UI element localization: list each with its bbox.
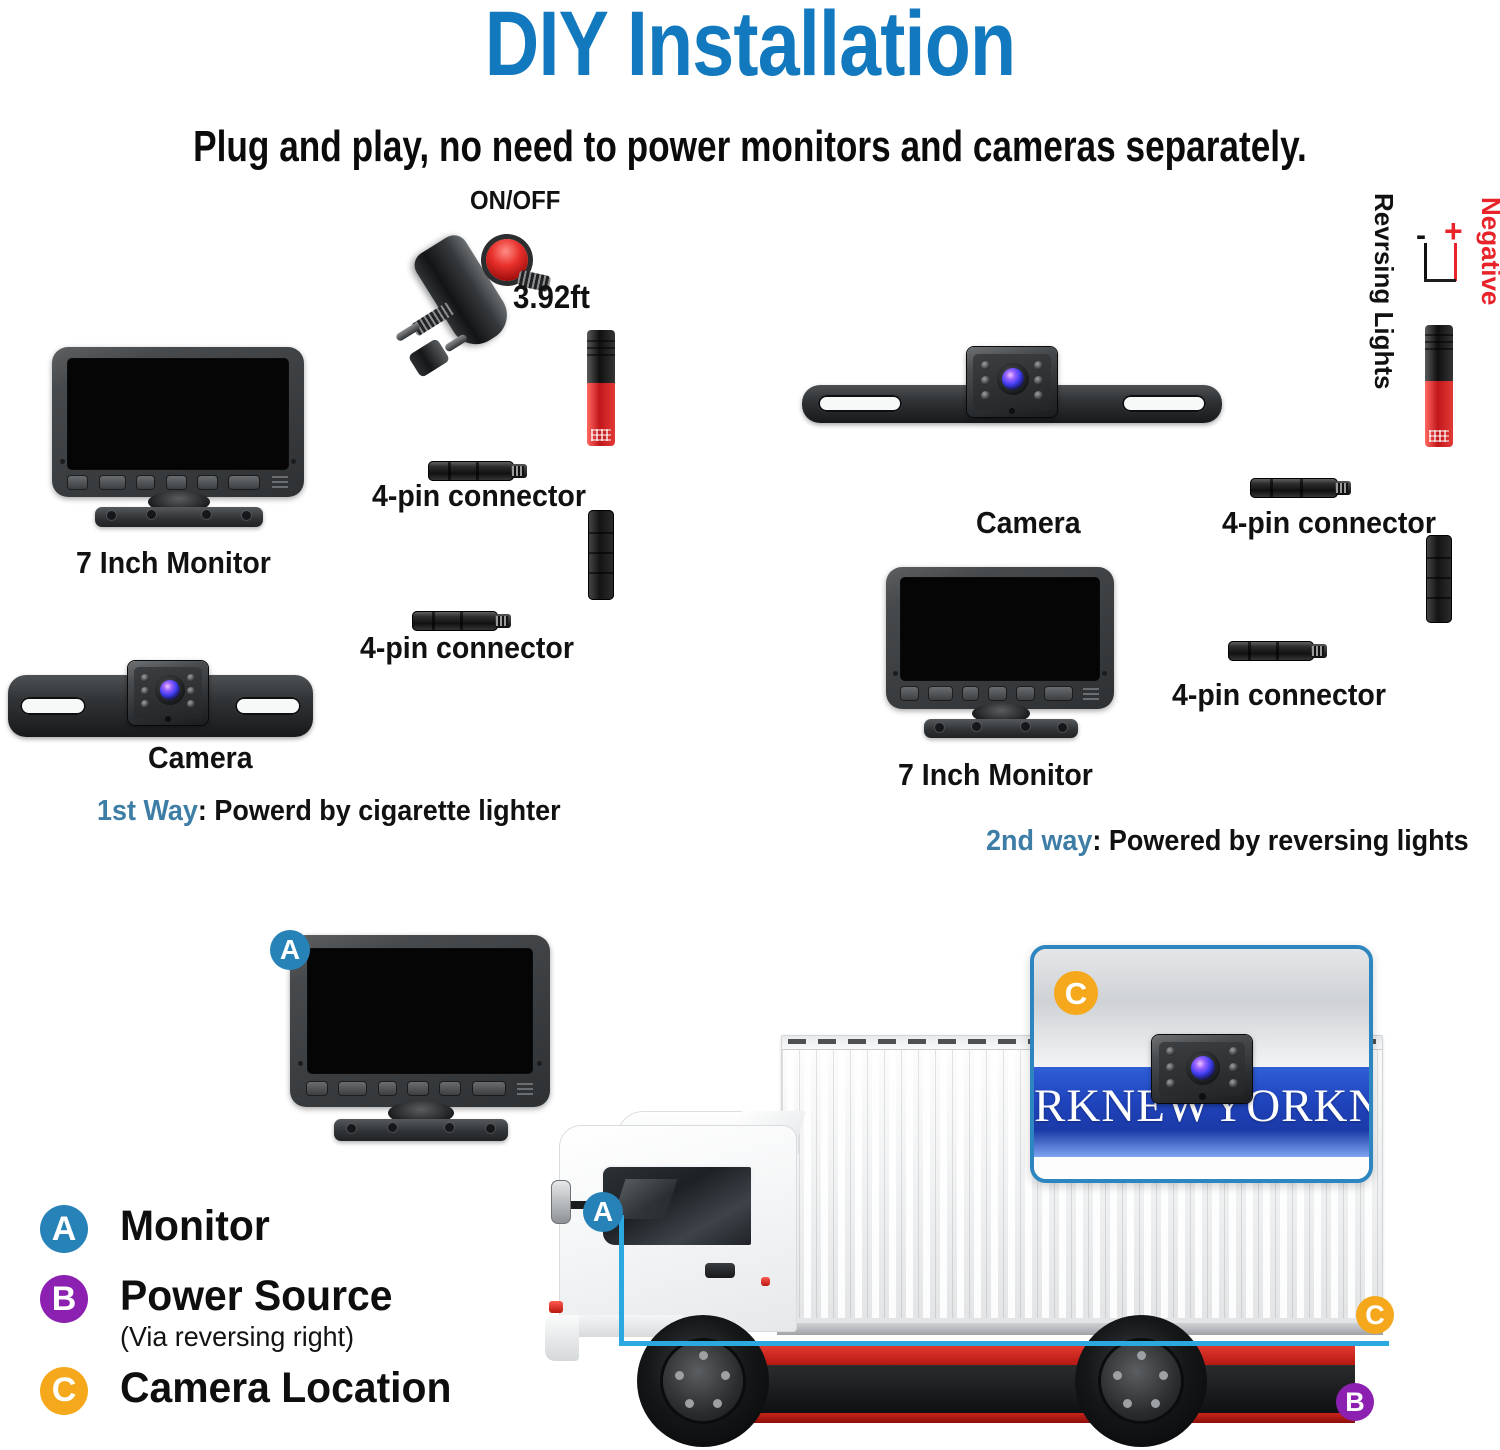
monitor-button[interactable] xyxy=(68,476,87,489)
ir-led xyxy=(1034,391,1043,400)
light-sensor xyxy=(1009,408,1015,414)
monitor-button[interactable] xyxy=(339,1082,366,1095)
light-sensor xyxy=(1199,1093,1206,1100)
ir-led xyxy=(187,700,195,708)
camera-right-wire-h xyxy=(978,487,1440,491)
caption-first-way-rest: : Powerd by cigarette lighter xyxy=(198,795,561,827)
truck-door-handle xyxy=(705,1263,735,1278)
page-subtitle: Plug and play, no need to power monitors… xyxy=(150,122,1350,172)
ir-led xyxy=(1166,1079,1175,1088)
ir-led xyxy=(187,674,195,682)
ir-led xyxy=(141,674,149,682)
legend-marker-c: C xyxy=(40,1367,88,1415)
power-barrel-connector-right xyxy=(1425,325,1453,447)
monitor-stand-base xyxy=(334,1119,508,1141)
diagram-second-way: Revrsing Lights Negative - + xyxy=(790,185,1500,885)
truck-front-wheel xyxy=(637,1315,769,1447)
monitor-bottom xyxy=(290,935,550,1150)
monitor-right-label: 7 Inch Monitor xyxy=(898,757,1093,793)
connector-right-top xyxy=(1250,478,1338,498)
ir-led xyxy=(1166,1047,1175,1056)
ir-led xyxy=(1229,1047,1238,1056)
truck-marker-light xyxy=(761,1277,770,1286)
connector-top-label: 4-pin connector xyxy=(372,478,586,514)
legend-sub-power-source: (Via reversing right) xyxy=(120,1321,395,1353)
monitor-button[interactable] xyxy=(137,476,154,489)
legend: A Monitor B Power Source (Via reversing … xyxy=(40,1205,560,1415)
ir-led xyxy=(141,700,149,708)
ir-led xyxy=(1166,1063,1175,1072)
fork-trunk xyxy=(1438,279,1442,329)
truck-rear-wheel xyxy=(1075,1315,1207,1447)
reversing-lights-label: Revrsing Lights xyxy=(1368,193,1399,389)
monitor-stand-base xyxy=(95,507,263,527)
negative-label: Negative xyxy=(1475,197,1500,305)
ir-led xyxy=(1034,376,1043,385)
monitor-power-button[interactable] xyxy=(229,476,259,489)
monitor-right xyxy=(886,567,1114,747)
monitor-left-label: 7 Inch Monitor xyxy=(76,545,271,581)
diagram-first-way: ON/OFF 3.92ft xyxy=(0,185,700,865)
monitor-button[interactable] xyxy=(307,1082,327,1095)
connector-bottom xyxy=(412,611,498,631)
ir-led xyxy=(1229,1079,1238,1088)
camera-location-inset: RKNEWYORKN C xyxy=(1030,945,1373,1183)
cable-splitter xyxy=(588,510,614,600)
monitor-button[interactable] xyxy=(901,687,918,700)
caption-second-way: 2nd way: Powered by reversing lights xyxy=(986,825,1469,858)
truck-underbody xyxy=(705,1365,1355,1413)
monitor-button[interactable] xyxy=(198,476,217,489)
negative-lead xyxy=(1424,243,1427,281)
power-barrel-connector xyxy=(587,330,615,446)
monitor-button[interactable] xyxy=(167,476,186,489)
wire-route-chassis xyxy=(619,1341,1389,1346)
onoff-label: ON/OFF xyxy=(470,185,560,216)
camera-right-wire-down xyxy=(978,421,982,489)
legend-title-power-source: Power Source xyxy=(120,1275,392,1319)
legend-item-monitor: A Monitor xyxy=(40,1205,560,1253)
monitor-button[interactable] xyxy=(929,687,952,700)
marker-c-inset: C xyxy=(1054,971,1098,1015)
page-title: DIY Installation xyxy=(135,0,1365,93)
license-plate-camera-right xyxy=(802,385,1222,423)
plug-wire-vertical xyxy=(600,271,604,333)
camera-module-inset xyxy=(1152,1035,1252,1103)
marker-a-cab: A xyxy=(583,1192,623,1232)
camera-wire-bottom xyxy=(172,620,600,624)
ir-led xyxy=(981,361,990,370)
monitor-button[interactable] xyxy=(100,476,125,489)
speaker-grill-icon xyxy=(517,1083,533,1095)
caption-second-way-rest: : Powered by reversing lights xyxy=(1092,825,1468,857)
monitor-button[interactable] xyxy=(963,687,978,700)
camera-lens-icon xyxy=(1191,1056,1215,1080)
truck-lower-rail xyxy=(695,1413,1355,1423)
wire-route-cab xyxy=(619,1215,624,1345)
plug-wire-horizontal xyxy=(548,271,604,275)
camera-lens-icon xyxy=(160,680,180,700)
camera-right-label: Camera xyxy=(976,505,1081,541)
ir-led xyxy=(1034,361,1043,370)
ir-led xyxy=(981,391,990,400)
legend-item-power-source: B Power Source (Via reversing right) xyxy=(40,1275,560,1353)
ir-led xyxy=(981,376,990,385)
monitor-button[interactable] xyxy=(408,1082,428,1095)
marker-c-camera-location: C xyxy=(1356,1296,1394,1334)
connector-right-bottom-label: 4-pin connector xyxy=(1172,677,1386,713)
monitor-button[interactable] xyxy=(440,1082,460,1095)
legend-title-camera-location: Camera Location xyxy=(120,1367,451,1411)
camera-left-label: Camera xyxy=(148,740,253,776)
camera-module xyxy=(128,661,208,725)
monitor-power-button[interactable] xyxy=(1045,687,1072,700)
speaker-grill-icon xyxy=(1083,688,1099,700)
positive-lead xyxy=(1454,243,1457,281)
truck-box-skirt xyxy=(777,1323,1383,1335)
monitor-left xyxy=(52,347,304,537)
license-plate-camera-left xyxy=(8,675,313,737)
monitor-power-button[interactable] xyxy=(473,1082,505,1095)
monitor-button[interactable] xyxy=(1017,687,1034,700)
cable-length-label: 3.92ft xyxy=(513,279,590,316)
legend-marker-a: A xyxy=(40,1205,88,1253)
truck-chassis-rail xyxy=(695,1345,1355,1367)
caption-first-way-prefix: 1st Way xyxy=(97,795,198,827)
ir-led xyxy=(187,687,195,695)
legend-item-camera-location: C Camera Location xyxy=(40,1367,560,1415)
light-sensor xyxy=(165,716,171,722)
monitor-stand-base xyxy=(924,719,1078,738)
marker-a-monitor: A xyxy=(270,930,310,970)
caption-second-way-prefix: 2nd way xyxy=(986,825,1092,857)
monitor-button[interactable] xyxy=(379,1082,396,1095)
cable-splitter-right xyxy=(1426,535,1452,623)
speaker-grill-icon xyxy=(272,476,288,488)
legend-marker-b: B xyxy=(40,1275,88,1323)
caption-first-way: 1st Way: Powerd by cigarette lighter xyxy=(97,795,561,828)
legend-title-monitor: Monitor xyxy=(120,1205,270,1249)
ir-led xyxy=(141,687,149,695)
connector-right-top-label: 4-pin connector xyxy=(1222,505,1436,541)
marker-b-power-source: B xyxy=(1336,1383,1374,1421)
camera-lens-icon xyxy=(1002,368,1024,390)
connector-right-bottom xyxy=(1228,641,1314,661)
camera-module xyxy=(967,347,1057,417)
connector-bottom-label: 4-pin connector xyxy=(360,630,574,666)
monitor-button[interactable] xyxy=(989,687,1006,700)
ir-led xyxy=(1229,1063,1238,1072)
